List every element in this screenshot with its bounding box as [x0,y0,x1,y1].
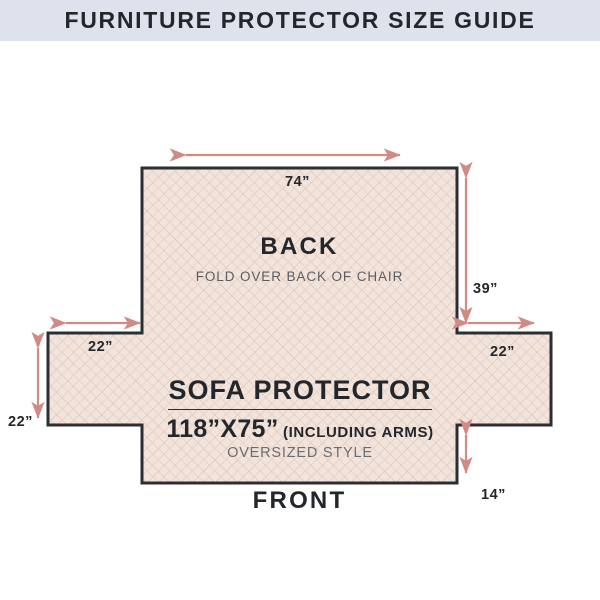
protector-body [48,168,551,483]
protector-shape-diagram [0,41,600,600]
header-band: FURNITURE PROTECTOR SIZE GUIDE [0,0,600,41]
size-guide-page: FURNITURE PROTECTOR SIZE GUIDE [0,0,600,600]
diagram-stage: BACK FOLD OVER BACK OF CHAIR SOFA PROTEC… [0,41,600,600]
page-title: FURNITURE PROTECTOR SIZE GUIDE [65,7,536,34]
